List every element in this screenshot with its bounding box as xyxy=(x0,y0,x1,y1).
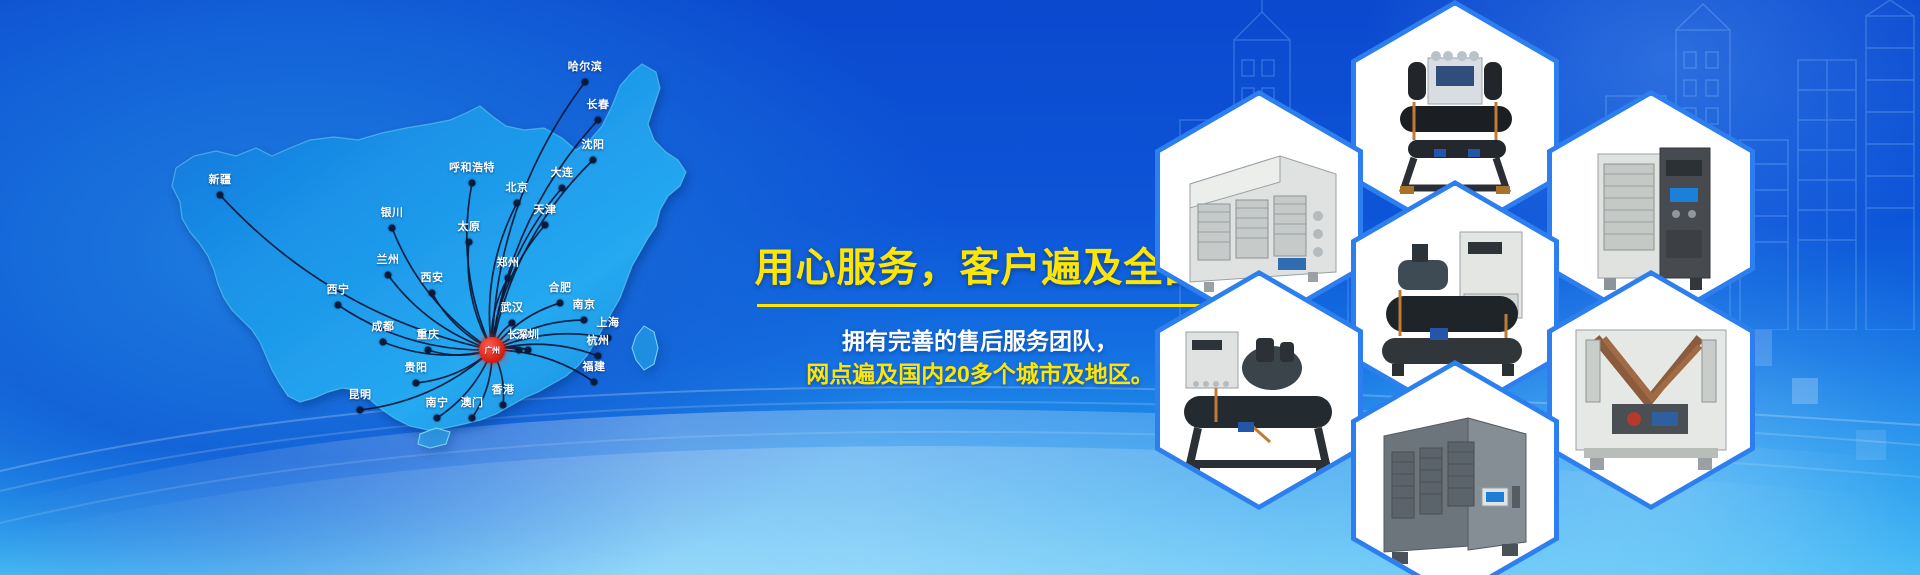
city-label-呼和浩特: 呼和浩特 xyxy=(449,159,495,175)
product-hex-screw-compressor-unit[interactable] xyxy=(1155,270,1363,510)
city-dot-18[interactable] xyxy=(591,379,598,386)
route-line xyxy=(492,120,598,350)
city-label-重庆: 重庆 xyxy=(417,326,440,342)
city-label-西安: 西安 xyxy=(421,269,444,285)
city-dot-23[interactable] xyxy=(413,380,420,387)
subtitle-line-2: 网点遍及国内20多个城市及地区。 xyxy=(745,358,1215,391)
city-dot-26[interactable] xyxy=(469,415,476,422)
hub-label: 广州 xyxy=(485,345,500,356)
city-label-银川: 银川 xyxy=(381,204,404,220)
hub-marker-guangzhou[interactable]: 广州 xyxy=(479,337,505,363)
city-dot-2[interactable] xyxy=(590,157,597,164)
city-dot-10[interactable] xyxy=(335,302,342,309)
city-dot-1[interactable] xyxy=(595,117,602,124)
city-dot-15[interactable] xyxy=(581,317,588,324)
route-line xyxy=(392,228,492,350)
low-temperature-industrial-chiller-image xyxy=(1356,366,1554,575)
promo-banner: 哈尔滨长春沈阳大连呼和浩特北京天津银川太原新疆西宁兰州西安郑州合肥南京上海杭州福… xyxy=(0,0,1920,575)
product-hex-gallery xyxy=(1155,0,1755,575)
city-dot-22[interactable] xyxy=(425,347,432,354)
city-label-北京: 北京 xyxy=(506,179,529,195)
city-dot-14[interactable] xyxy=(557,300,564,307)
city-label-合肥: 合肥 xyxy=(549,279,572,295)
subtitle-line-1: 拥有完善的售后服务团队， xyxy=(745,325,1215,358)
product-hex-open-frame-chiller[interactable] xyxy=(1547,270,1755,510)
city-label-昆明: 昆明 xyxy=(349,386,372,402)
city-dot-13[interactable] xyxy=(505,275,512,282)
city-dot-8[interactable] xyxy=(466,239,473,246)
decor-square-2 xyxy=(1792,378,1818,404)
city-dot-6[interactable] xyxy=(542,222,549,229)
headline: 用心服务，客户遍及全国 xyxy=(745,246,1215,290)
product-hex-low-temperature-chiller[interactable] xyxy=(1351,360,1559,575)
city-label-大连: 大连 xyxy=(551,164,574,180)
city-label-长春: 长春 xyxy=(587,96,610,112)
city-label-上海: 上海 xyxy=(597,314,620,330)
city-dot-0[interactable] xyxy=(582,79,589,86)
city-label-天津: 天津 xyxy=(534,201,557,217)
city-label-南宁: 南宁 xyxy=(426,394,449,410)
decor-square-4 xyxy=(1856,430,1886,460)
city-dot-7[interactable] xyxy=(389,225,396,232)
city-label-香港: 香港 xyxy=(492,381,515,397)
city-dot-24[interactable] xyxy=(357,407,364,414)
city-label-澳门: 澳门 xyxy=(461,394,484,410)
open-frame-air-cooled-chiller-image xyxy=(1552,276,1750,505)
city-label-南京: 南京 xyxy=(573,296,596,312)
city-label-兰州: 兰州 xyxy=(377,251,400,267)
city-dot-12[interactable] xyxy=(429,290,436,297)
city-dot-11[interactable] xyxy=(385,272,392,279)
screw-compressor-condensing-unit-image xyxy=(1160,276,1358,505)
city-dot-28[interactable] xyxy=(525,347,532,354)
city-label-成都: 成都 xyxy=(372,318,395,334)
copy-block: 用心服务，客户遍及全国 拥有完善的售后服务团队， 网点遍及国内20多个城市及地区… xyxy=(745,246,1215,392)
city-dot-3[interactable] xyxy=(559,185,566,192)
city-label-杭州: 杭州 xyxy=(587,332,610,348)
city-dot-25[interactable] xyxy=(434,415,441,422)
city-label-武汉: 武汉 xyxy=(501,299,524,315)
city-dot-9[interactable] xyxy=(217,192,224,199)
city-dot-5[interactable] xyxy=(514,200,521,207)
route-line xyxy=(468,242,492,350)
china-service-map: 哈尔滨长春沈阳大连呼和浩特北京天津银川太原新疆西宁兰州西安郑州合肥南京上海杭州福… xyxy=(120,20,740,450)
city-dot-4[interactable] xyxy=(469,180,476,187)
headline-divider xyxy=(757,304,1203,307)
city-label-贵阳: 贵阳 xyxy=(405,359,428,375)
city-dot-20[interactable] xyxy=(516,347,523,354)
city-label-福建: 福建 xyxy=(583,358,606,374)
city-label-哈尔滨: 哈尔滨 xyxy=(568,58,603,74)
city-label-沈阳: 沈阳 xyxy=(582,136,605,152)
city-label-西宁: 西宁 xyxy=(327,281,350,297)
route-line xyxy=(492,350,594,382)
city-label-深圳: 深圳 xyxy=(517,326,540,342)
city-label-新疆: 新疆 xyxy=(209,171,232,187)
city-label-郑州: 郑州 xyxy=(497,254,520,270)
city-dot-21[interactable] xyxy=(380,339,387,346)
route-line xyxy=(220,195,492,350)
city-label-太原: 太原 xyxy=(458,218,481,234)
service-route-lines xyxy=(120,20,740,450)
city-dot-27[interactable] xyxy=(500,402,507,409)
